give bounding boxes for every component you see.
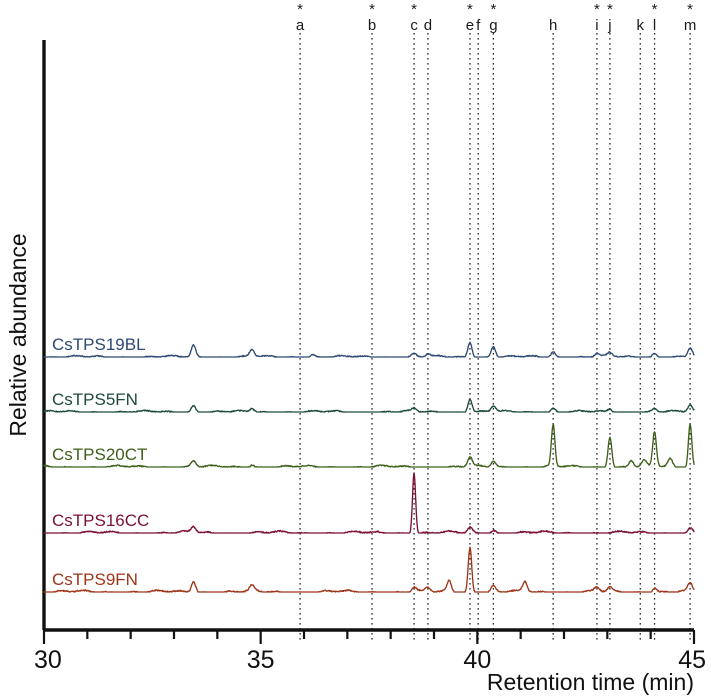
y-axis-title: Relative abundance [5, 233, 31, 436]
marker-letter-l: l [653, 17, 656, 34]
marker-letter-d: d [424, 17, 432, 34]
marker-star-c: * [411, 1, 417, 18]
trace-label-CsTPS20CT: CsTPS20CT [52, 445, 147, 464]
trace-label-CsTPS16CC: CsTPS16CC [52, 511, 149, 530]
trace-label-group: CsTPS19BLCsTPS5FNCsTPS20CTCsTPS16CCCsTPS… [52, 335, 149, 589]
marker-letter-e: e [466, 17, 474, 34]
marker-star-m: * [687, 1, 693, 18]
marker-star-j: * [607, 1, 613, 18]
trace-label-CsTPS5FN: CsTPS5FN [52, 390, 138, 409]
x-axis-ticks [44, 630, 694, 644]
marker-star-i: * [594, 1, 600, 18]
marker-letter-i: i [595, 17, 598, 34]
marker-star-a: * [297, 1, 303, 18]
x-axis-title: Retention time (min) [487, 669, 694, 695]
marker-letter-f: f [476, 17, 481, 34]
marker-letter-h: h [549, 17, 557, 34]
x-tick-label-35: 35 [247, 646, 275, 674]
marker-guide-lines [300, 33, 690, 640]
marker-star-e: * [467, 1, 473, 18]
marker-letter-b: b [368, 17, 376, 34]
marker-letter-k: k [637, 17, 645, 34]
trace-label-CsTPS19BL: CsTPS19BL [52, 335, 146, 354]
marker-labels: *a*b*cd*ef*gh*i*jk*l*m [296, 1, 696, 34]
marker-star-g: * [490, 1, 496, 18]
marker-letter-g: g [489, 17, 497, 34]
chromatogram-plot: *a*b*cd*ef*gh*i*jk*l*m 30354045 CsTPS19B… [0, 0, 711, 699]
chromatogram-figure: *a*b*cd*ef*gh*i*jk*l*m 30354045 CsTPS19B… [0, 0, 711, 699]
x-tick-label-30: 30 [34, 646, 62, 674]
marker-letter-a: a [296, 17, 305, 34]
marker-letter-j: j [607, 17, 611, 34]
marker-letter-m: m [684, 17, 697, 34]
marker-star-b: * [369, 1, 375, 18]
marker-letter-c: c [410, 17, 418, 34]
marker-star-l: * [652, 1, 658, 18]
trace-CsTPS5FN [44, 399, 694, 412]
trace-label-CsTPS9FN: CsTPS9FN [52, 570, 138, 589]
